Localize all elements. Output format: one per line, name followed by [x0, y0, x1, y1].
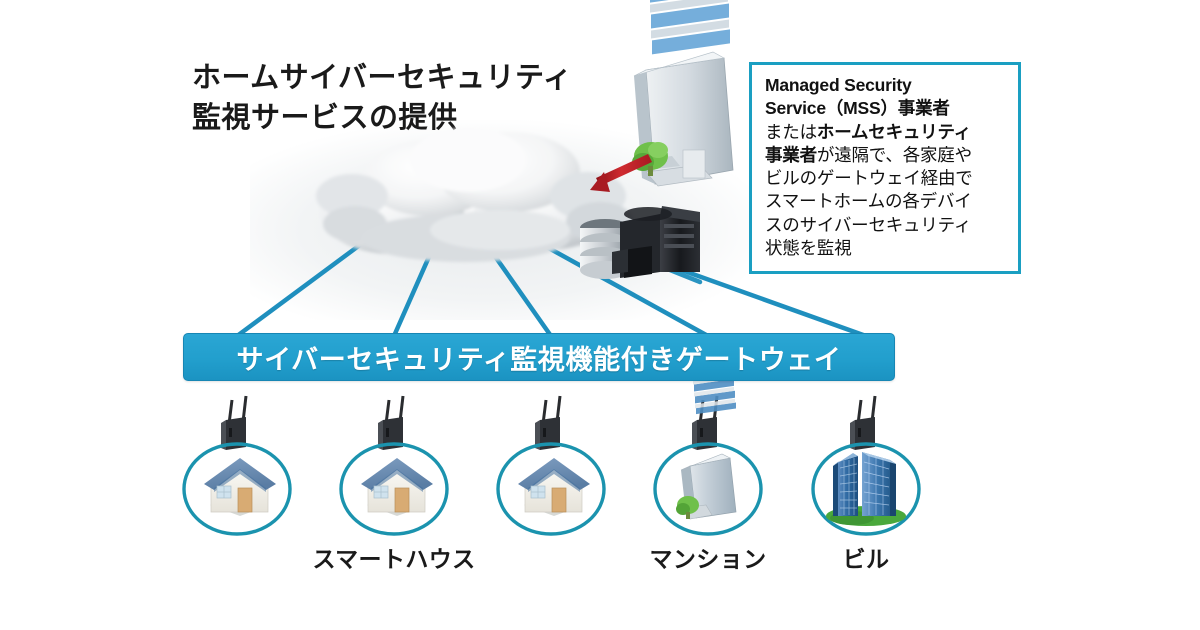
router-icon-1	[221, 396, 246, 450]
router-icon-4	[692, 396, 717, 450]
network-cloud-icon	[316, 128, 634, 262]
callout-text-service-mss: Service（MSS）事業者	[765, 98, 950, 118]
ring-house-1	[184, 444, 290, 534]
label-smart-house: スマートハウス	[312, 540, 475, 574]
page-title: ホームサイバーセキュリティ 監視サービスの提供	[192, 58, 572, 138]
diagram-canvas: ホームサイバーセキュリティ 監視サービスの提供	[0, 0, 1200, 630]
callout-line-4: 事業者が遠隔で、各家庭や	[765, 144, 1008, 167]
office-towers-icon	[826, 452, 906, 526]
callout-line-7: スのサイバーセキュリティ	[765, 214, 1008, 237]
link-line-1	[237, 236, 372, 336]
callout-line-6: スマートホームの各デバイ	[765, 190, 1008, 213]
callout-line-5: ビルのゲートウェイ経由で	[765, 167, 1008, 190]
callout-line-3: またはホームセキュリティ	[765, 121, 1008, 144]
link-line-2	[394, 250, 432, 336]
router-icon-5	[850, 396, 875, 450]
router-icon-2	[378, 396, 403, 450]
ring-house-2	[341, 444, 447, 534]
ring-apartment	[655, 444, 761, 534]
cloud-haze-backdrop	[250, 120, 770, 320]
callout-text-managed-security: Managed Security	[765, 75, 912, 95]
gateway-devices	[221, 396, 875, 450]
premise-rings	[184, 444, 919, 534]
router-icon-3	[535, 396, 560, 450]
mss-provider-building-icon	[634, 0, 733, 186]
gateway-bar: サイバーセキュリティ監視機能付きゲートウェイ	[183, 333, 895, 381]
house-icon-2	[361, 458, 433, 516]
ring-house-3	[498, 444, 604, 534]
callout-line-1: Managed Security	[765, 74, 1008, 97]
callout-text-home-security: ホームセキュリティ	[817, 122, 971, 142]
link-line-server	[600, 242, 700, 282]
callout-line-8: 状態を監視	[765, 237, 1008, 260]
callout-text-matawa: または	[765, 122, 817, 142]
callout-line-2: Service（MSS）事業者	[765, 97, 1008, 120]
ring-office	[813, 444, 919, 534]
link-line-3	[492, 252, 551, 336]
house-icon-3	[518, 458, 590, 516]
apartment-building-icon	[676, 367, 736, 519]
gateway-bar-label: サイバーセキュリティ監視機能付きゲートウェイ	[236, 338, 841, 377]
database-cylinder-icon	[580, 219, 630, 279]
server-rack-icon	[612, 206, 700, 278]
link-line-4	[545, 246, 708, 336]
label-apartment: マンション	[650, 540, 767, 574]
label-office-building: ビル	[843, 540, 890, 574]
red-arrow-icon	[590, 154, 652, 192]
callout-text-enkaku: が遠隔で、各家庭や	[817, 145, 972, 165]
callout-text-jigyosha: 事業者	[765, 145, 817, 165]
house-icon-1	[204, 458, 276, 516]
mss-description-callout: Managed Security Service（MSS）事業者 またはホームセ…	[749, 62, 1021, 274]
green-tree-icon	[632, 142, 668, 176]
